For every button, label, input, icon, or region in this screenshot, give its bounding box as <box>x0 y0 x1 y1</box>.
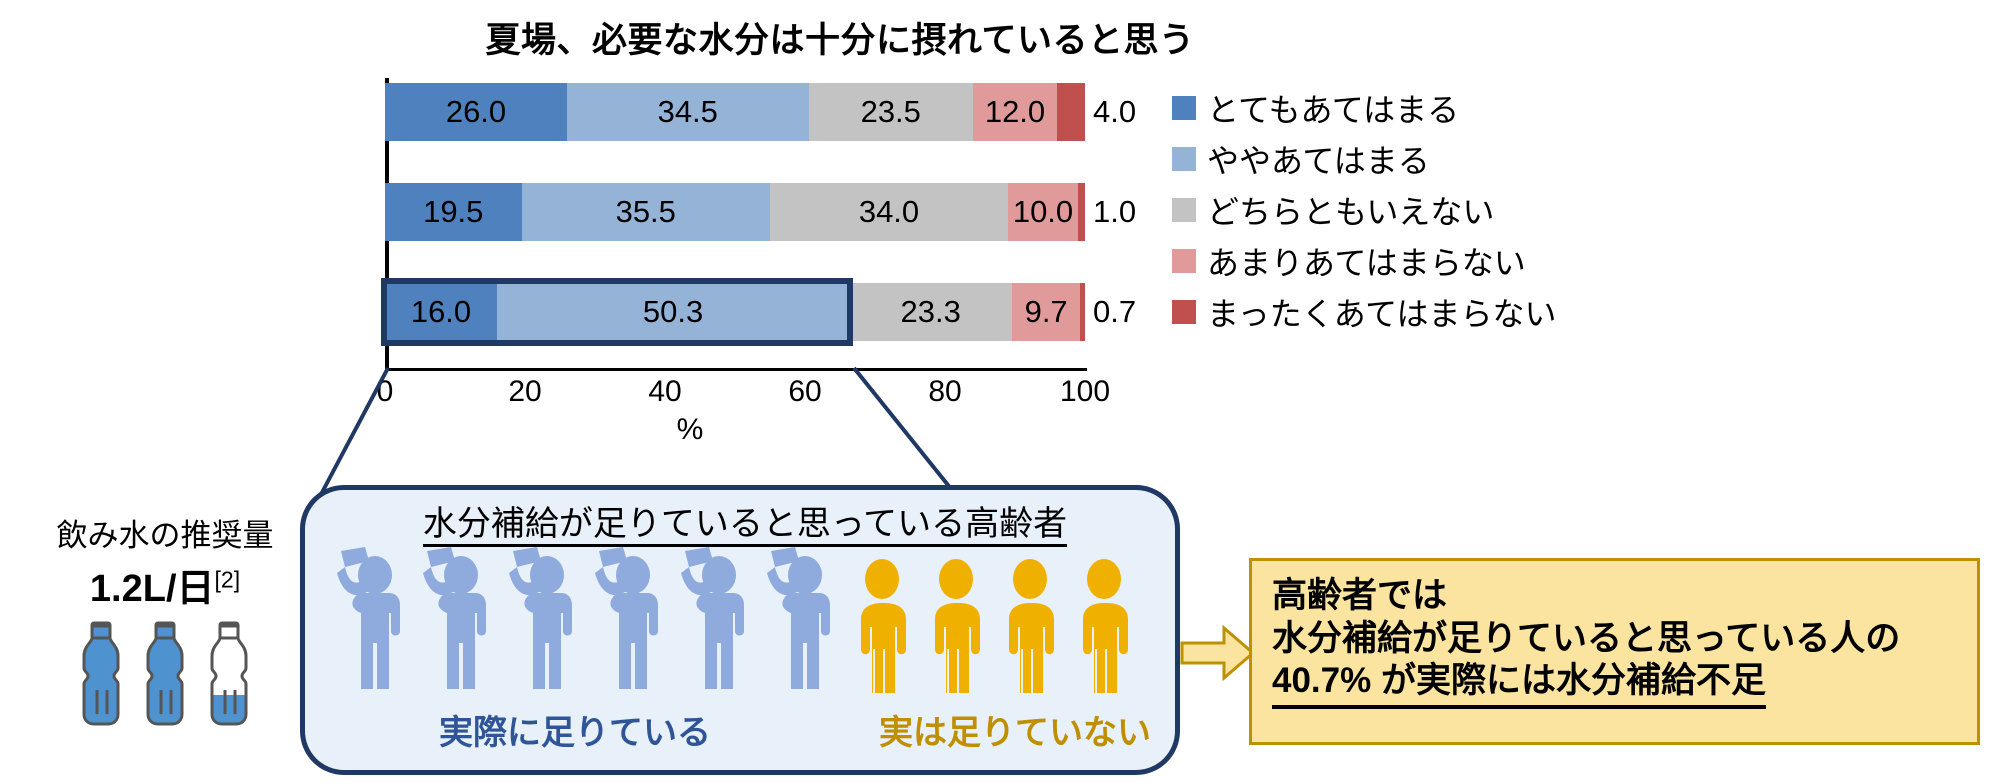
person-standing-icon <box>847 545 917 695</box>
person-standing-icon <box>1069 545 1139 695</box>
right-arrow-icon <box>1180 625 1256 681</box>
bar-outside-label: 4.0 <box>1085 83 1136 141</box>
legend-swatch-icon <box>1172 300 1196 324</box>
person-standing-icon <box>995 545 1065 695</box>
legend-label: ややあてはまる <box>1207 136 1430 182</box>
legend-label: まったくあてはまらない <box>1207 289 1556 335</box>
people-callout-box: 水分補給が足りていると思っている高齢者 <box>300 485 1180 775</box>
bar-segment: 35.5 <box>522 183 771 241</box>
people-group-labels: 実際に足りている 実は足りていない <box>305 705 1185 754</box>
insight-line-3-wrap: 40.7% が実際には水分補給不足 <box>1272 660 1977 709</box>
recommended-intake-block: 飲み水の推奨量 1.2L/日[2] <box>30 510 300 728</box>
plot-area: 26.0 34.5 23.5 12.0 4.0 19.5 35.5 34.0 1… <box>385 75 1085 375</box>
bar-segment: 12.0 <box>973 83 1057 141</box>
legend-swatch-icon <box>1172 198 1196 222</box>
x-tick-20: 20 <box>508 375 541 409</box>
page-title: 夏場、必要な水分は十分に摂れていると思う <box>480 12 1200 63</box>
bar-segment: 26.0 <box>385 83 567 141</box>
bar-segment: 23.3 <box>849 283 1012 341</box>
person-drinking-icon <box>331 545 413 695</box>
recommended-intake-amount: 1.2L/日[2] <box>30 557 300 612</box>
label-actually-not-enough: 実は足りていない <box>845 705 1185 754</box>
bar-row: 16.0 50.3 23.3 9.7 0.7 <box>385 283 1085 341</box>
people-callout-heading: 水分補給が足りていると思っている高齢者 <box>305 496 1185 545</box>
footnote-marker: [2] <box>215 566 241 592</box>
bar-segment: 23.5 <box>809 83 974 141</box>
person-standing-icon <box>921 545 991 695</box>
bar-segment: 34.5 <box>567 83 809 141</box>
person-drinking-icon <box>417 545 499 695</box>
x-tick-60: 60 <box>788 375 821 409</box>
bar-segment: 16.0 <box>385 283 497 341</box>
person-drinking-icon <box>503 545 585 695</box>
bar-row: 19.5 35.5 34.0 10.0 1.0 <box>385 183 1085 241</box>
legend-label: あまりあてはまらない <box>1207 238 1526 284</box>
person-drinking-icon <box>675 545 757 695</box>
recommended-intake-caption: 飲み水の推奨量 <box>30 510 300 555</box>
x-tick-100: 100 <box>1060 375 1110 409</box>
bar-segment: 9.7 <box>1012 283 1080 341</box>
legend-swatch-icon <box>1172 249 1196 273</box>
person-drinking-icon <box>761 545 843 695</box>
bar-segment: 10.0 <box>1008 183 1078 241</box>
person-drinking-icon <box>589 545 671 695</box>
bar-outside-label: 1.0 <box>1085 183 1136 241</box>
bar-segment <box>1078 183 1085 241</box>
chart-legend: とてもあてはまる ややあてはまる どちらともいえない あまりあてはまらない まっ… <box>1172 82 1556 337</box>
x-axis-label: % <box>677 413 704 447</box>
water-bottle-icon <box>136 620 194 728</box>
legend-item[interactable]: どちらともいえない <box>1172 184 1556 235</box>
bottle-icon-row <box>30 620 300 728</box>
x-tick-40: 40 <box>648 375 681 409</box>
label-actually-enough: 実際に足りている <box>305 705 845 754</box>
bar-outside-label: 0.7 <box>1085 283 1136 341</box>
insight-callout-box: 高齢者では 水分補給が足りていると思っている人の 40.7% が実際には水分補給… <box>1249 558 1980 745</box>
people-icon-row <box>331 545 1139 695</box>
legend-item[interactable]: あまりあてはまらない <box>1172 235 1556 286</box>
insight-line-3: 40.7% が実際には水分補給不足 <box>1272 660 1766 709</box>
bar-segment: 50.3 <box>497 283 849 341</box>
x-tick-0: 0 <box>377 375 394 409</box>
insight-line-2: 水分補給が足りていると思っている人の <box>1272 618 1977 661</box>
legend-label: とてもあてはまる <box>1207 85 1459 131</box>
people-callout-heading-text: 水分補給が足りていると思っている高齢者 <box>423 505 1067 547</box>
legend-item[interactable]: とてもあてはまる <box>1172 82 1556 133</box>
stacked-bar-chart: 20-30代 40-50代 60-80代 26.0 34.5 23.5 12.0… <box>0 75 1180 405</box>
bar-segment: 34.0 <box>770 183 1008 241</box>
insight-line-1: 高齢者では <box>1272 575 1977 618</box>
legend-item[interactable]: まったくあてはまらない <box>1172 286 1556 337</box>
bar-segment <box>1057 83 1085 141</box>
amount-value: 1.2L/日 <box>90 568 215 610</box>
bar-row: 26.0 34.5 23.5 12.0 4.0 <box>385 83 1085 141</box>
water-bottle-icon <box>72 620 130 728</box>
bar-segment: 19.5 <box>385 183 522 241</box>
water-bottle-icon-partial <box>200 620 258 728</box>
legend-item[interactable]: ややあてはまる <box>1172 133 1556 184</box>
x-tick-80: 80 <box>928 375 961 409</box>
legend-label: どちらともいえない <box>1207 187 1494 233</box>
legend-swatch-icon <box>1172 147 1196 171</box>
legend-swatch-icon <box>1172 96 1196 120</box>
